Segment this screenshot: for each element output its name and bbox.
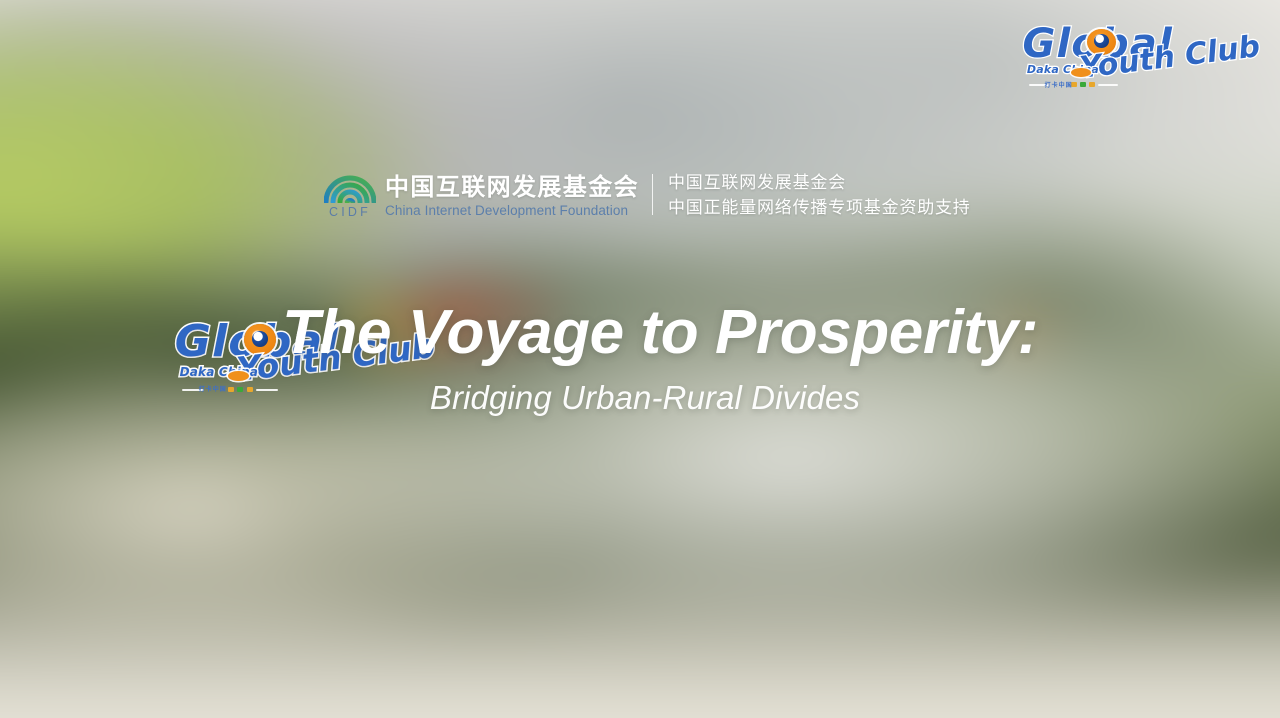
logo-accent-dot bbox=[228, 371, 250, 382]
cidf-abbreviation: CIDF bbox=[329, 205, 371, 219]
logo-chip-3 bbox=[1089, 82, 1095, 87]
logo-rule-right bbox=[256, 389, 278, 391]
sponsor-credit-line-2: 中国正能量网络传播专项基金资助支持 bbox=[668, 197, 971, 219]
logo-rule-right bbox=[1098, 84, 1118, 86]
sponsor-credit-line-1: 中国互联网发展基金会 bbox=[668, 172, 971, 194]
global-youth-club-logo-center: Global Youth Club Daka China 打卡中国 bbox=[170, 312, 410, 408]
sponsor-credit: 中国互联网发展基金会 中国正能量网络传播专项基金资助支持 bbox=[666, 172, 971, 219]
cidf-name-english: China Internet Development Foundation bbox=[385, 203, 639, 219]
logo-chip-2 bbox=[1080, 82, 1086, 87]
cidf-names: 中国互联网发展基金会 China Internet Development Fo… bbox=[385, 172, 639, 219]
logo-chip-3 bbox=[247, 387, 253, 392]
title-card-slide: Global Youth Club Daka China 打卡中国 bbox=[0, 0, 1280, 718]
cidf-mark: CIDF bbox=[324, 172, 376, 219]
logo-word-daka-china-cn: 打卡中国 bbox=[199, 384, 227, 393]
logo-word-daka-china-cn: 打卡中国 bbox=[1045, 80, 1073, 89]
logo-chip-2 bbox=[237, 387, 243, 392]
cidf-arc-icon bbox=[324, 172, 376, 203]
sponsor-divider bbox=[652, 174, 653, 215]
cidf-name-chinese: 中国互联网发展基金会 bbox=[385, 173, 639, 201]
global-youth-club-logo-topright: Global Youth Club Daka China 打卡中国 bbox=[1018, 18, 1240, 100]
sponsor-bar: CIDF 中国互联网发展基金会 China Internet Developme… bbox=[324, 172, 971, 219]
logo-chip-1 bbox=[228, 387, 234, 392]
cidf-logo: CIDF 中国互联网发展基金会 China Internet Developme… bbox=[324, 172, 639, 219]
